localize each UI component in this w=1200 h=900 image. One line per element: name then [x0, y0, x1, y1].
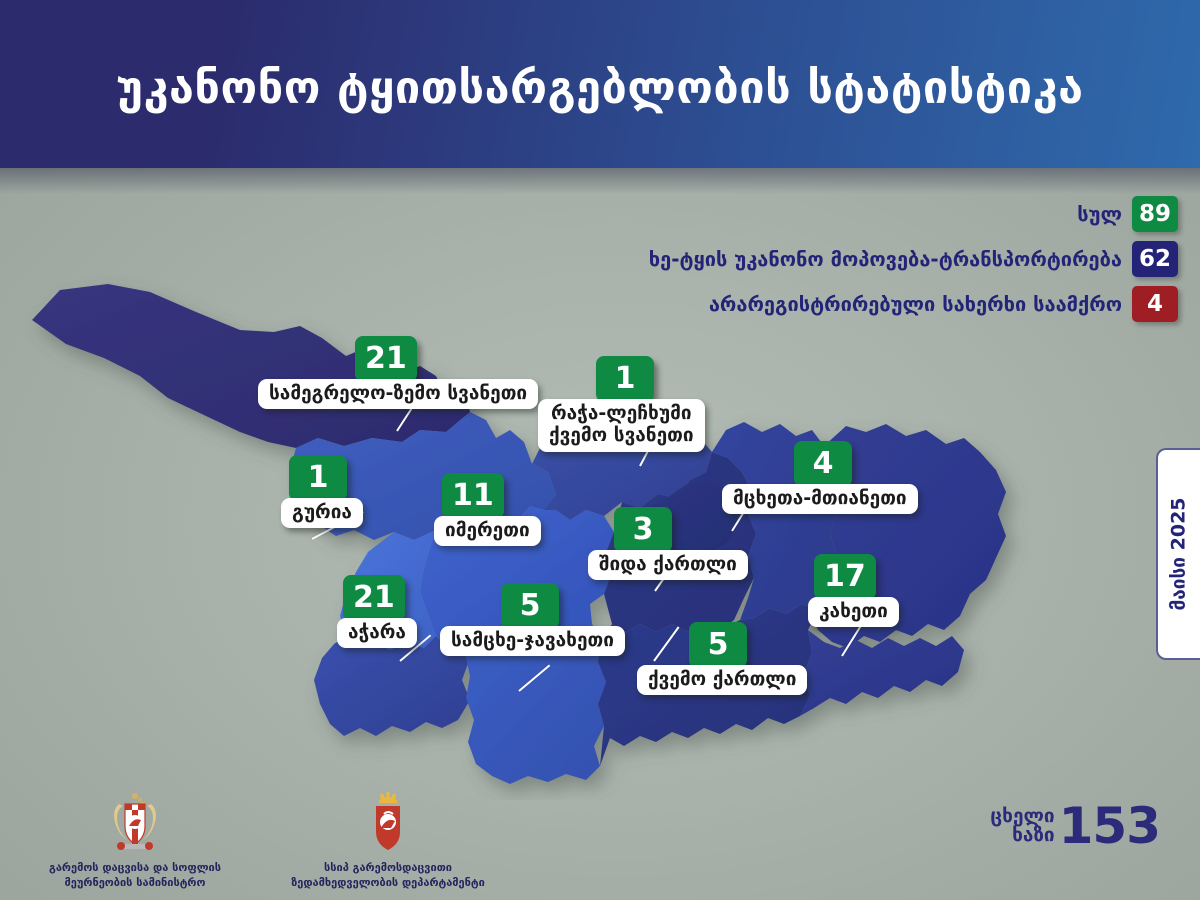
page-title: უკანონო ტყითსარგებლობის სტატისტიკა — [116, 61, 1083, 114]
date-tab: მაისი 2025 — [1156, 448, 1200, 660]
hotline-word-2: ხაზი — [990, 826, 1054, 845]
name-plate-racha: რაჭა-ლეჩხუმი ქვემო სვანეთი — [538, 399, 705, 452]
callout-ajara: 21 აჭარა — [337, 575, 417, 648]
callout-guria: 1 გურია — [281, 455, 363, 528]
org-department-caption-line2: ზედამხედველობის დეპარტამენტი — [291, 876, 485, 891]
org-ministry: გარემოს დაცვისა და სოფლის მეურნეობის სამ… — [20, 790, 250, 891]
name-plate-samtskhe: სამცხე-ჯავახეთი — [440, 626, 625, 656]
legend-row-unregistered-sawmill: არარეგისტრირებული სახერხი საამქრო 4 — [709, 286, 1178, 322]
count-badge-samegrelo: 21 — [355, 336, 417, 382]
region-kakheti-tail — [800, 630, 964, 716]
count-badge-samtskhe: 5 — [501, 583, 559, 629]
count-badge-imereti: 11 — [442, 473, 504, 519]
legend-row-illegal-logging: ხე-ტყის უკანონო მოპოვება-ტრანსპორტირება … — [649, 241, 1178, 277]
legend: სულ 89 ხე-ტყის უკანონო მოპოვება-ტრანსპორ… — [649, 196, 1178, 322]
name-plate-kakheti: კახეთი — [808, 597, 899, 627]
georgia-coat-of-arms-icon — [107, 790, 163, 856]
name-plate-mtskheta: მცხეთა-მთიანეთი — [722, 484, 918, 514]
footer: გარემოს დაცვისა და სოფლის მეურნეობის სამ… — [0, 780, 1200, 900]
org-department-caption-line1: სსიპ გარემოსდაცვითი — [291, 861, 485, 876]
legend-chip-total: 89 — [1132, 196, 1178, 232]
count-badge-mtskheta: 4 — [794, 441, 852, 487]
name-plate-kvemo: ქვემო ქართლი — [637, 665, 807, 695]
name-plate-shida: შიდა ქართლი — [588, 550, 748, 580]
name-plate-racha-line2: ქვემო სვანეთი — [549, 424, 694, 446]
name-plate-samegrelo: სამეგრელო-ზემო სვანეთი — [258, 379, 538, 409]
org-department-caption: სსიპ გარემოსდაცვითი ზედამხედველობის დეპა… — [291, 861, 485, 891]
header-banner: უკანონო ტყითსარგებლობის სტატისტიკა — [0, 0, 1200, 168]
hotline-number: 153 — [1059, 804, 1160, 848]
legend-label-unregistered-sawmill: არარეგისტრირებული სახერხი საამქრო — [709, 292, 1122, 316]
org-ministry-caption-line2: მეურნეობის სამინისტრო — [49, 876, 221, 891]
callout-racha-lechkhumi: 1 რაჭა-ლეჩხუმი ქვემო სვანეთი — [538, 356, 705, 452]
callout-imereti: 11 იმერეთი — [434, 473, 541, 546]
count-badge-kvemo: 5 — [689, 622, 747, 668]
count-badge-shida: 3 — [614, 507, 672, 553]
name-plate-ajara: აჭარა — [337, 618, 417, 648]
hotline-words: ცხელი ხაზი — [990, 807, 1054, 846]
legend-row-total: სულ 89 — [1077, 196, 1178, 232]
legend-label-total: სულ — [1077, 202, 1122, 226]
callout-samtskhe-javakheti: 5 სამცხე-ჯავახეთი — [440, 583, 625, 656]
name-plate-guria: გურია — [281, 498, 363, 528]
callout-kakheti: 17 კახეთი — [808, 554, 899, 627]
name-plate-imereti: იმერეთი — [434, 516, 541, 546]
count-badge-guria: 1 — [289, 455, 347, 501]
legend-chip-unregistered-sawmill: 4 — [1132, 286, 1178, 322]
count-badge-ajara: 21 — [343, 575, 405, 621]
legend-label-illegal-logging: ხე-ტყის უკანონო მოპოვება-ტრანსპორტირება — [649, 247, 1122, 271]
name-plate-racha-line1: რაჭა-ლეჩხუმი — [549, 402, 694, 424]
georgia-shield-icon — [360, 790, 416, 856]
infographic-root: უკანონო ტყითსარგებლობის სტატისტიკა სულ 8… — [0, 0, 1200, 900]
count-badge-racha: 1 — [596, 356, 654, 402]
callout-shida-kartli: 3 შიდა ქართლი — [588, 507, 748, 580]
hotline: ცხელი ხაზი 153 — [990, 804, 1160, 848]
callout-mtskheta-mtianeti: 4 მცხეთა-მთიანეთი — [722, 441, 918, 514]
callout-samegrelo-zemo-svaneti: 21 სამეგრელო-ზემო სვანეთი — [258, 336, 538, 409]
legend-chip-illegal-logging: 62 — [1132, 241, 1178, 277]
date-tab-label: მაისი 2025 — [1168, 497, 1190, 610]
callout-kvemo-kartli: 5 ქვემო ქართლი — [637, 622, 807, 695]
org-ministry-caption-line1: გარემოს დაცვისა და სოფლის — [49, 861, 221, 876]
org-ministry-caption: გარემოს დაცვისა და სოფლის მეურნეობის სამ… — [49, 861, 221, 891]
count-badge-kakheti: 17 — [814, 554, 876, 600]
org-department: სსიპ გარემოსდაცვითი ზედამხედველობის დეპა… — [273, 790, 503, 891]
